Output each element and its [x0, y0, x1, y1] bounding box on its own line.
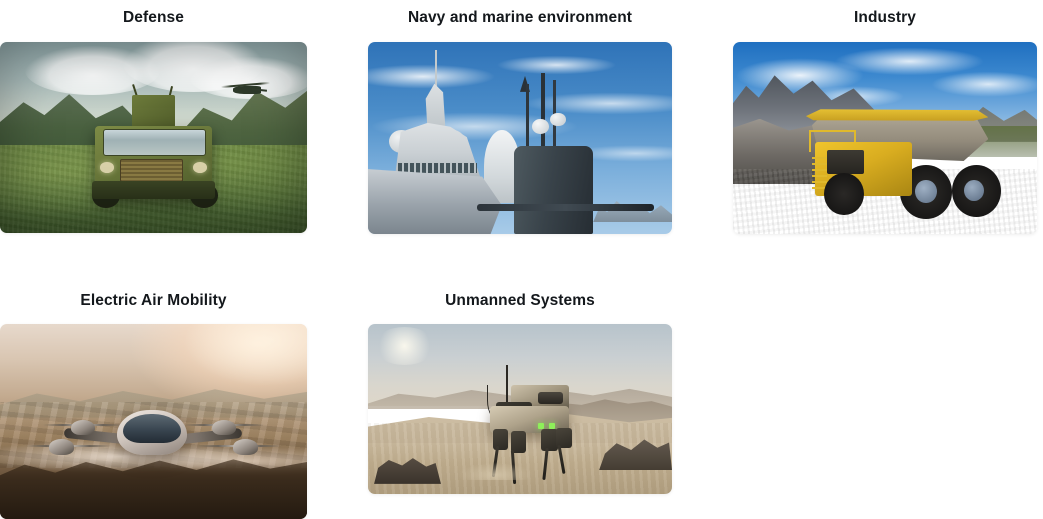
- sun-glow-overlay: [0, 324, 307, 519]
- image-vignette: [0, 42, 307, 233]
- dust-cloud: [459, 463, 532, 480]
- card-image-navy-and-marine-environment[interactable]: [368, 42, 672, 234]
- submarine-sensor-dome: [532, 119, 549, 134]
- truck-cab-window: [827, 150, 863, 175]
- card-image-unmanned-systems[interactable]: [368, 324, 672, 494]
- status-led: [549, 423, 555, 429]
- wheel-hub: [915, 180, 936, 203]
- ship-hull: [368, 169, 502, 234]
- industry-scene: [733, 42, 1037, 234]
- card-title-electric-air-mobility: Electric Air Mobility: [0, 291, 307, 311]
- card-title-industry: Industry: [733, 8, 1037, 28]
- status-led: [538, 423, 544, 429]
- robot-leg-joint: [541, 429, 558, 451]
- electric-air-mobility-scene: [0, 324, 307, 519]
- unmanned-systems-scene: [368, 324, 672, 494]
- card-title-navy-and-marine-environment: Navy and marine environment: [368, 8, 672, 28]
- robot-leg-joint: [493, 429, 508, 449]
- robot-camera-module: [538, 392, 562, 404]
- truck-wheel-front: [824, 173, 864, 215]
- submarine-conning-tower: [514, 146, 593, 234]
- truck-bed-lip: [806, 109, 988, 121]
- card-title-unmanned-systems: Unmanned Systems: [368, 291, 672, 311]
- card-unmanned-systems[interactable]: Unmanned Systems: [368, 291, 672, 494]
- card-industry[interactable]: Industry: [733, 8, 1037, 234]
- card-navy-and-marine-environment[interactable]: Navy and marine environment: [368, 8, 672, 234]
- submarine-dive-plane: [477, 204, 653, 211]
- card-title-defense: Defense: [0, 8, 307, 28]
- card-defense[interactable]: Defense: [0, 8, 307, 233]
- wheel-hub: [964, 180, 984, 201]
- sun-glow: [374, 327, 435, 364]
- card-electric-air-mobility[interactable]: Electric Air Mobility: [0, 291, 307, 519]
- card-image-industry[interactable]: [733, 42, 1037, 234]
- defense-scene: [0, 42, 307, 233]
- market-segments-grid: Defense: [0, 0, 1043, 518]
- ship-mast: [435, 50, 438, 88]
- submarine-periscope: [541, 73, 545, 150]
- navy-scene: [368, 42, 672, 234]
- submarine-periscope: [526, 84, 529, 149]
- bridge-windows: [398, 163, 477, 173]
- card-image-defense[interactable]: [0, 42, 307, 233]
- submarine-sensor-dome: [550, 113, 565, 126]
- card-image-electric-air-mobility[interactable]: [0, 324, 307, 519]
